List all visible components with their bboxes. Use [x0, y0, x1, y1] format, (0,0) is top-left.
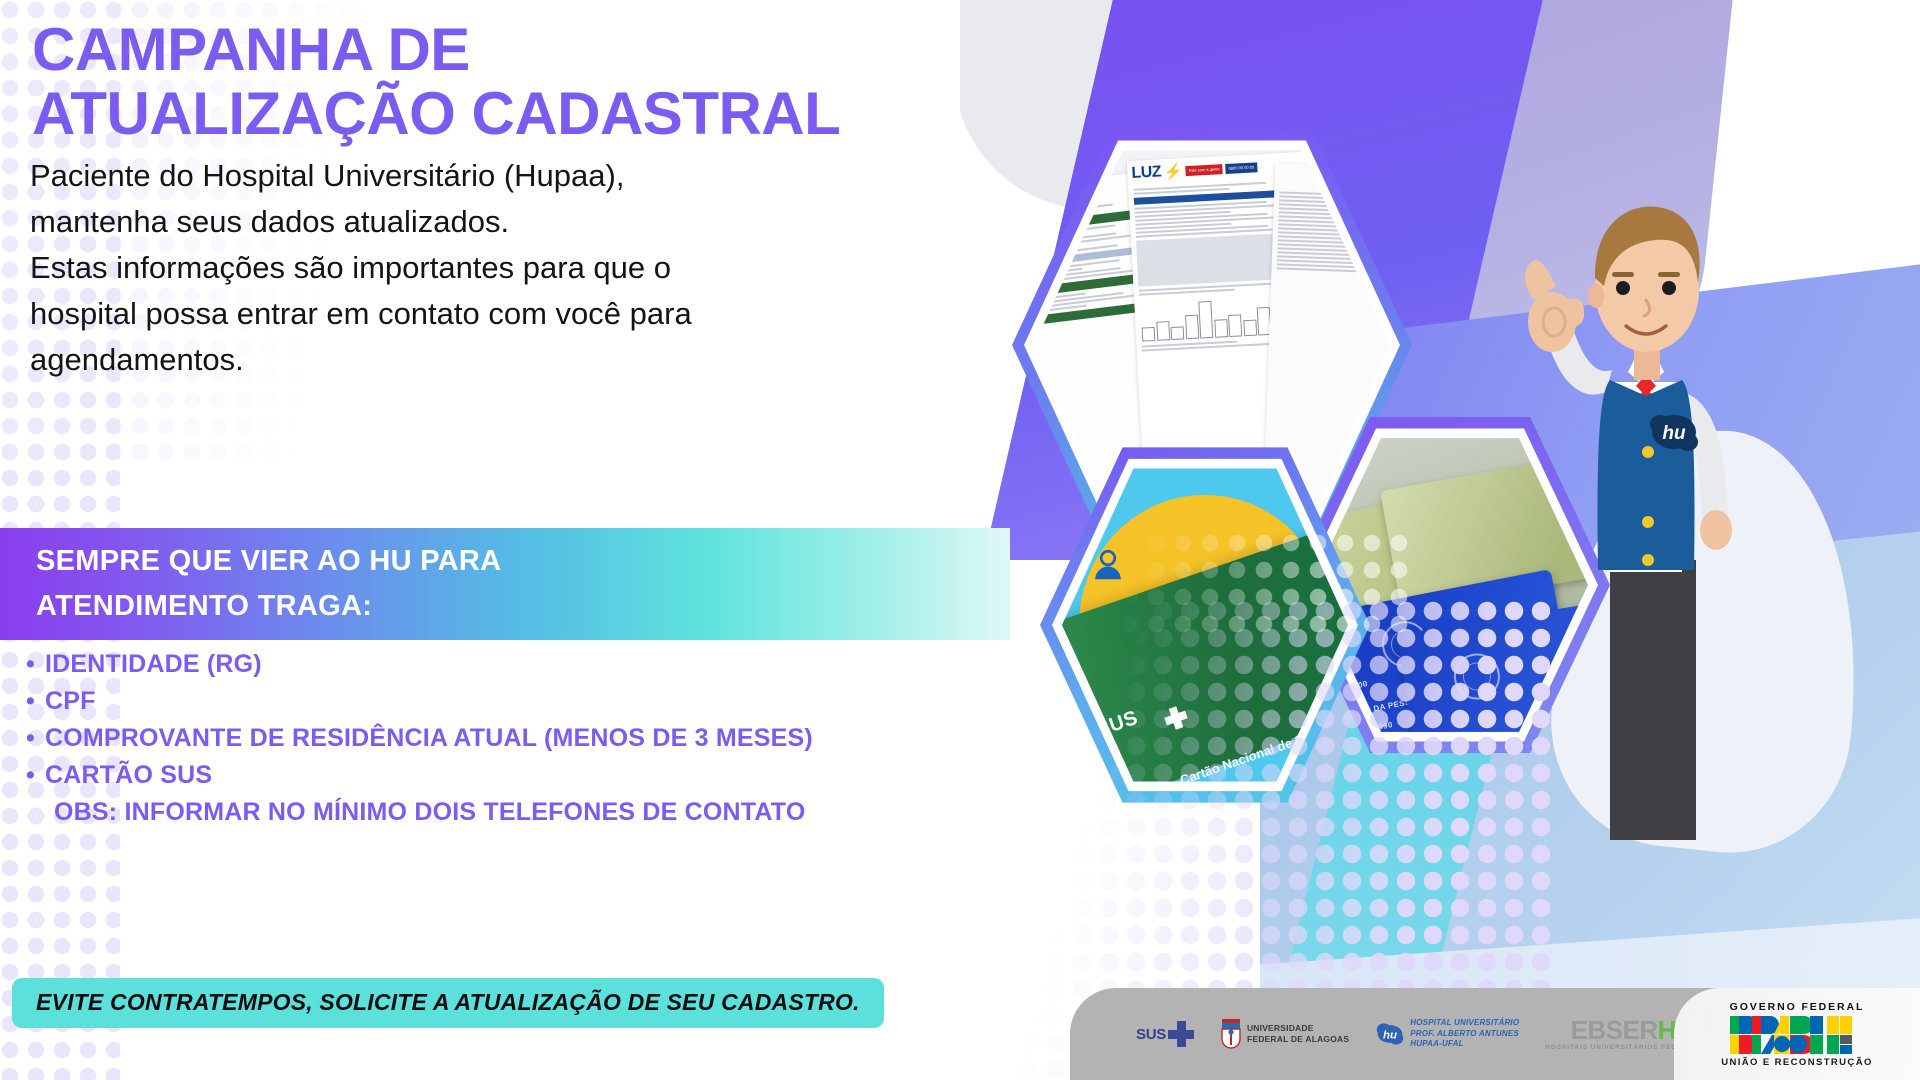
list-item-label: CARTÃO SUS [45, 759, 212, 792]
campaign-poster: NE [0, 0, 1920, 1080]
hu-logo-icon: hu [1375, 1021, 1405, 1047]
svg-text:hu: hu [1383, 1029, 1397, 1041]
instruction-banner: SEMPRE QUE VIER AO HU PARA ATENDIMENTO T… [0, 528, 1010, 640]
ufal-logo: UNIVERSIDADE FEDERAL DE ALAGOAS [1220, 1017, 1349, 1051]
banner-line-2: ATENDIMENTO TRAGA: [36, 584, 1010, 629]
governo-federal-label: GOVERNO FEDERAL [1730, 1001, 1865, 1013]
brasil-wordmark-icon [1728, 1014, 1866, 1056]
user-avatar-icon [1091, 547, 1125, 581]
hupaa-logo-text: HOSPITAL UNIVERSITÁRIO PROF. ALBERTO ANT… [1410, 1018, 1519, 1049]
title-line-2: ATUALIZAÇÃO CADASTRAL [32, 80, 840, 147]
list-item-label: CPF [45, 685, 96, 718]
vest-button-2 [1642, 516, 1654, 528]
list-item: • CARTÃO SUS [26, 759, 1006, 792]
title-line-1: CAMPANHA DE [32, 16, 470, 83]
ufal-logo-text: UNIVERSIDADE FEDERAL DE ALAGOAS [1247, 1023, 1349, 1045]
lead-line-4: hospital possa entrar em contato com voc… [30, 291, 930, 337]
call-to-action-text: EVITE CONTRATEMPOS, SOLICITE A ATUALIZAÇ… [36, 989, 860, 1015]
contact-phone-note: OBS: INFORMAR NO MÍNIMO DOIS TELEFONES D… [26, 796, 1006, 829]
hexagon-content: SUS Cartão Nacional de Saúde Cartão do U… [1062, 462, 1348, 788]
lead-line-3: Estas informações são importantes para q… [30, 245, 930, 291]
lead-line-2: mantenha seus dados atualizados. [30, 199, 930, 245]
ufal-line-1: UNIVERSIDADE [1247, 1023, 1349, 1034]
bullet-icon: • [26, 759, 35, 792]
bill-tagline: Fale com a gente [1186, 165, 1223, 176]
ufal-line-2: FEDERAL DE ALAGOAS [1247, 1034, 1349, 1045]
bill-brand-luz: LUZ [1131, 163, 1162, 183]
vest-button-3 [1642, 554, 1654, 566]
hupaa-logo: hu HOSPITAL UNIVERSITÁRIO PROF. ALBERTO … [1375, 1018, 1519, 1049]
hupaa-line-1: HOSPITAL UNIVERSITÁRIO [1410, 1018, 1519, 1028]
page-title: CAMPANHA DE ATUALIZAÇÃO CADASTRAL [0, 0, 960, 145]
sus-cross-icon [1168, 1021, 1194, 1047]
hupaa-line-2: PROF. ALBERTO ANTUNES [1410, 1029, 1519, 1039]
banner-line-1: SEMPRE QUE VIER AO HU PARA [36, 539, 1010, 584]
sus-card-side-label: Cartão do Usuário [1062, 716, 1082, 784]
sus-national-health-card: SUS Cartão Nacional de Saúde Cartão do U… [1062, 462, 1348, 788]
list-item-label: COMPROVANTE DE RESIDÊNCIA ATUAL (MENOS D… [45, 722, 813, 755]
bullet-icon: • [26, 648, 35, 681]
list-item: • COMPROVANTE DE RESIDÊNCIA ATUAL (MENOS… [26, 722, 1006, 755]
svg-text:hu: hu [1662, 423, 1686, 444]
governo-federal-logo: GOVERNO FEDERAL [1674, 988, 1920, 1080]
cpf-number: 000-00 [1340, 679, 1369, 693]
vest-button-1 [1642, 446, 1654, 458]
list-item: • IDENTIDADE (RG) [26, 648, 1006, 681]
list-item: • CPF [26, 685, 1006, 718]
bullet-icon: • [26, 722, 35, 755]
artwork-panel: NE [960, 0, 1920, 1080]
lightning-bolt-icon: ⚡ [1164, 162, 1184, 181]
poster-content: CAMPANHA DE ATUALIZAÇÃO CADASTRAL Pacien… [0, 0, 1010, 383]
lead-paragraph: Paciente do Hospital Universitário (Hupa… [0, 145, 930, 382]
lead-line-1: Paciente do Hospital Universitário (Hupa… [30, 153, 930, 199]
bullet-icon: • [26, 685, 35, 718]
governo-federal-tagline: UNIÃO E RECONSTRUÇÃO [1721, 1057, 1873, 1068]
hexagon-white-border: SUS Cartão Nacional de Saúde Cartão do U… [1052, 452, 1358, 798]
call-to-action-badge: EVITE CONTRATEMPOS, SOLICITE A ATUALIZAÇ… [12, 978, 884, 1028]
sus-logo-text: SUS [1136, 1026, 1166, 1043]
hupaa-line-3: HUPAA-UFAL [1410, 1039, 1519, 1049]
bill-phone: 0800 00 00 00 [1225, 163, 1257, 174]
lead-line-5: agendamentos. [30, 337, 930, 383]
sus-logo: SUS [1136, 1021, 1194, 1047]
ufal-crest-icon [1220, 1017, 1242, 1051]
required-documents-list: • IDENTIDADE (RG) • CPF • COMPROVANTE DE… [26, 648, 1006, 829]
ebserh-wordmark: EBSERH [1571, 1017, 1676, 1043]
hospital-staff-illustration: hu [1460, 0, 1780, 840]
ebserh-name-gray: EBSER [1571, 1015, 1658, 1045]
list-item-label: IDENTIDADE (RG) [45, 648, 262, 681]
